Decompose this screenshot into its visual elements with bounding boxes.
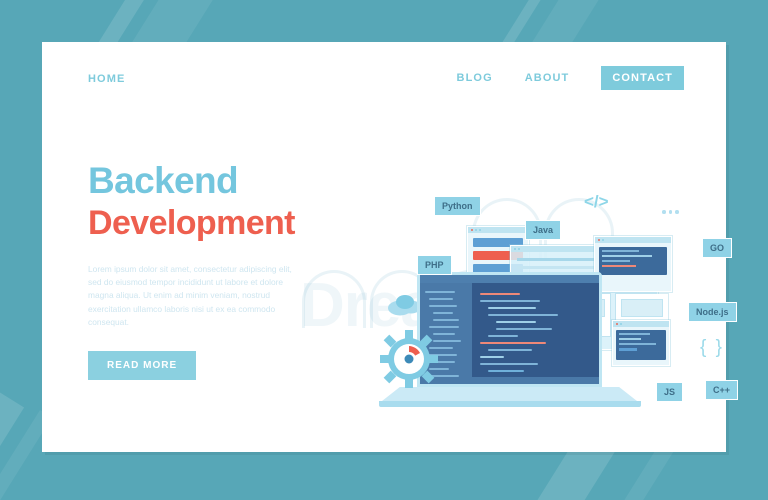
laptop-screen: [420, 275, 599, 384]
curly-brace-icon: { }: [700, 337, 724, 359]
laptop-base-lip: [379, 401, 641, 407]
badge-go[interactable]: GO: [702, 238, 732, 258]
gear-icon: [380, 330, 438, 388]
hero-illustration: Dreams </> { }: [362, 142, 762, 442]
badge-cpp[interactable]: C++: [705, 380, 738, 400]
top-navigation: HOME BLOG ABOUT CONTACT: [42, 42, 726, 114]
nav-link-blog[interactable]: BLOG: [457, 72, 493, 84]
ellipsis-icon: [662, 210, 679, 214]
editor-menubar: [420, 275, 599, 283]
nav-link-contact[interactable]: CONTACT: [601, 66, 684, 90]
landing-page-card: HOME BLOG ABOUT CONTACT Backend Developm…: [42, 42, 726, 452]
page-title-line-1: Backend: [88, 160, 348, 202]
badge-js[interactable]: JS: [656, 382, 683, 402]
badge-java[interactable]: Java: [525, 220, 561, 240]
code-tag-icon: </>: [584, 192, 609, 212]
laptop-illustration: [417, 272, 641, 407]
laptop-lid: [417, 272, 602, 387]
page-title: Backend Development: [88, 160, 348, 244]
nav-left-group: HOME: [88, 69, 125, 87]
page-title-line-2: Development: [88, 202, 348, 244]
nav-link-about[interactable]: ABOUT: [525, 72, 570, 84]
badge-php[interactable]: PHP: [417, 255, 452, 275]
badge-python[interactable]: Python: [434, 196, 481, 216]
editor-code-area: [472, 283, 599, 384]
nav-link-home[interactable]: HOME: [88, 73, 125, 85]
hero-paragraph: Lorem ipsum dolor sit amet, consectetur …: [88, 263, 293, 329]
badge-nodejs[interactable]: Node.js: [688, 302, 737, 322]
read-more-button[interactable]: READ MORE: [88, 351, 196, 380]
editor-statusbar: [420, 377, 599, 384]
laptop-base: [382, 387, 637, 401]
nav-right-group: BLOG ABOUT CONTACT: [457, 66, 684, 90]
